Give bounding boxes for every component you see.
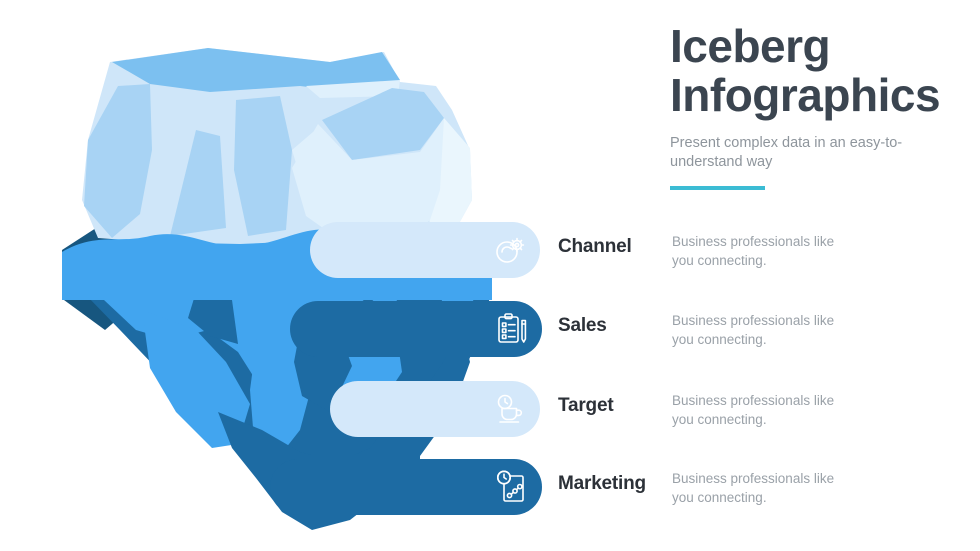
title-line-1: Iceberg — [670, 20, 830, 72]
coffee-clock-icon — [492, 391, 528, 427]
clipboard-checklist-icon — [494, 311, 530, 347]
iceberg-row-marketing[interactable]: Marketing Business professionals like yo… — [0, 459, 980, 515]
row-label-target: Target — [558, 395, 613, 417]
row-label-marketing: Marketing — [558, 473, 646, 495]
row-desc-marketing: Business professionals like you connecti… — [672, 469, 847, 507]
row-desc-target: Business professionals like you connecti… — [672, 391, 847, 429]
page-title: Iceberg Infographics — [670, 22, 970, 120]
document-analytics-clock-icon — [494, 469, 530, 505]
iceberg-row-sales[interactable]: Sales Business professionals like you co… — [0, 301, 980, 357]
brain-gear-icon — [492, 232, 528, 268]
accent-rule — [670, 186, 765, 190]
row-label-channel: Channel — [558, 236, 632, 258]
row-desc-channel: Business professionals like you connecti… — [672, 232, 847, 270]
pill-target[interactable] — [330, 381, 540, 437]
row-label-sales: Sales — [558, 315, 607, 337]
pill-sales[interactable] — [290, 301, 542, 357]
iceberg-above-water — [82, 48, 472, 244]
title-line-2: Infographics — [670, 69, 940, 121]
slide-canvas: Iceberg Infographics Present complex dat… — [0, 0, 980, 551]
header-block: Iceberg Infographics Present complex dat… — [670, 22, 970, 190]
pill-channel[interactable] — [310, 222, 540, 278]
iceberg-row-target[interactable]: Target Business professionals like you c… — [0, 381, 980, 437]
page-subtitle: Present complex data in an easy-to-under… — [670, 134, 925, 173]
iceberg-row-channel[interactable]: Channel Business professionals like you … — [0, 222, 980, 278]
row-desc-sales: Business professionals like you connecti… — [672, 311, 847, 349]
pill-marketing[interactable] — [270, 459, 542, 515]
